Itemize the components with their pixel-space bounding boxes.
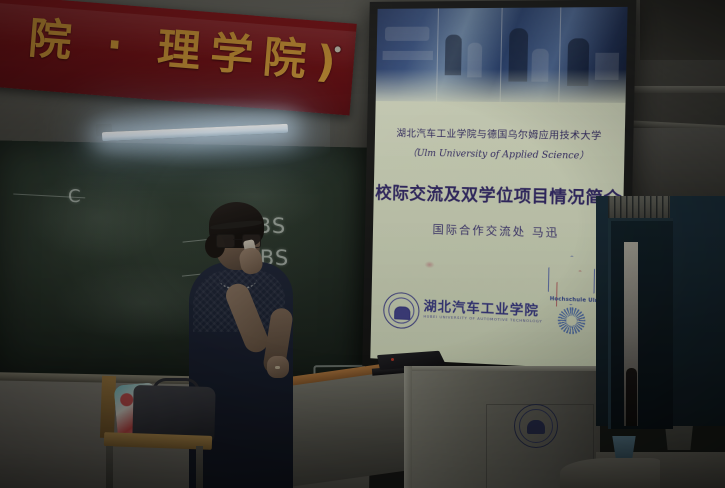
chair-backrest xyxy=(100,376,116,438)
lecture-hall-photo: 院 · 理学院) C HBS HBS xyxy=(0,0,725,488)
sunburst-icon xyxy=(558,307,586,335)
slide-content: 湖北汽车工业学院与德国乌尔姆应用技术大学 （Ulm University of … xyxy=(370,101,625,371)
slide-photo-banner xyxy=(376,7,628,103)
slide-subtitle-cn: 湖北汽车工业学院与德国乌尔姆应用技术大学 xyxy=(375,125,625,142)
chalk-underline xyxy=(13,194,85,199)
laptop-logo-icon xyxy=(391,358,394,361)
chalk-smudge xyxy=(24,171,176,264)
lectern-crest-icon xyxy=(514,404,558,448)
slide-presenter: 国际合作交流处 马迅 xyxy=(373,219,623,242)
chair-leg xyxy=(196,446,203,488)
floor-foreground xyxy=(560,458,660,488)
crest-mark-icon xyxy=(527,420,545,434)
ring-icon xyxy=(275,366,280,369)
university-seal-icon xyxy=(383,292,420,330)
lectern-top-edge xyxy=(404,366,600,371)
slide-subtitle-en: （Ulm University of Applied Science） xyxy=(374,145,624,162)
classroom-door[interactable] xyxy=(608,218,673,429)
slide-artifact xyxy=(424,261,434,268)
slide-title: 校际交流及双学位项目情况简介 xyxy=(374,179,624,209)
seal-mark-icon xyxy=(394,306,410,320)
photo-fade xyxy=(376,69,627,103)
lectern-bevel xyxy=(404,366,412,488)
ceiling-corner xyxy=(640,0,725,60)
chair-leg xyxy=(106,446,113,488)
projection-screen: 湖北汽车工业学院与德国乌尔姆应用技术大学 （Ulm University of … xyxy=(370,7,627,371)
host-university-logo: 湖北汽车工业学院 HUBEI UNIVERSITY OF AUTOMOTIVE … xyxy=(383,290,537,337)
distant-figure xyxy=(626,368,637,426)
